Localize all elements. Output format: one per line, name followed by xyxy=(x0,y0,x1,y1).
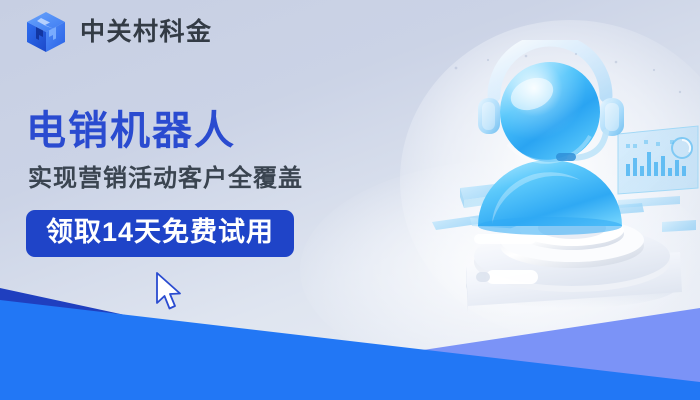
brand-name: 中关村科金 xyxy=(80,20,213,45)
hero-copy-block: 电销机器人 实现营销活动客户全覆盖 领取14天免费试用 xyxy=(26,110,303,257)
bottom-geometric-shapes xyxy=(0,260,700,400)
avatar-head-sphere xyxy=(478,40,624,162)
hero-subtitle: 实现营销活动客户全覆盖 xyxy=(28,166,303,192)
isometric-cube-logo-icon xyxy=(24,10,68,54)
data-chart-panel xyxy=(618,126,698,208)
promo-banner: 中关村科金 电销机器人 实现营销活动客户全覆盖 领取14天免费试用 xyxy=(0,0,700,400)
free-trial-cta-button[interactable]: 领取14天免费试用 xyxy=(26,210,294,257)
brand-header: 中关村科金 xyxy=(24,10,213,54)
mouse-pointer-icon xyxy=(152,270,186,314)
page-title: 电销机器人 xyxy=(26,110,303,152)
avatar-body-dome xyxy=(478,160,622,235)
